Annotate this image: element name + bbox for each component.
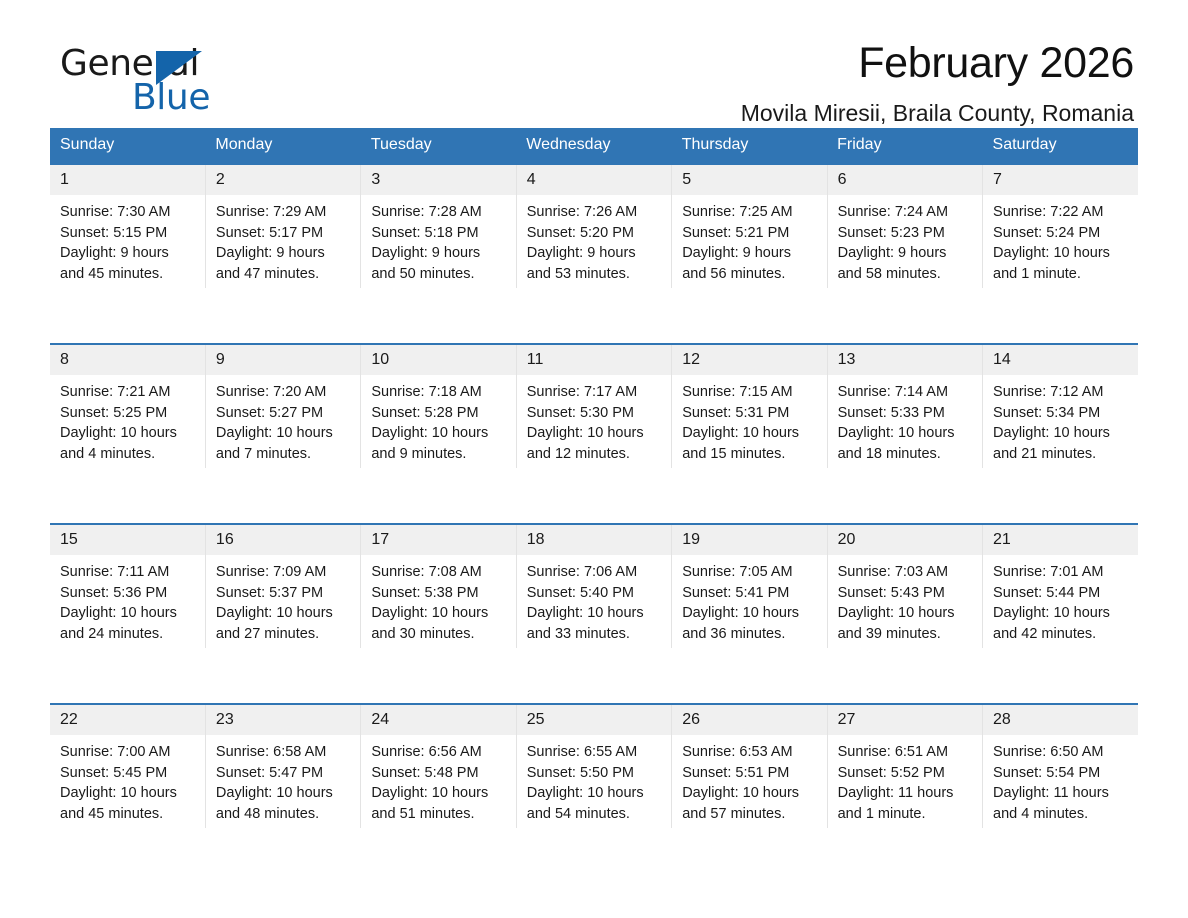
calendar-day-cell[interactable]: 26Sunrise: 6:53 AMSunset: 5:51 PMDayligh… — [672, 704, 827, 828]
day-daylight-line1-text: Daylight: 10 hours — [371, 423, 507, 444]
week-spacer-cell — [516, 468, 671, 524]
day-number: 28 — [983, 705, 1138, 735]
day-daylight-line1-text: Daylight: 10 hours — [682, 603, 818, 624]
day-sunrise-text: Sunrise: 7:29 AM — [216, 202, 352, 223]
day-daylight-line2-text: and 45 minutes. — [60, 804, 197, 825]
day-number: 3 — [361, 165, 515, 195]
calendar-day-cell[interactable]: 2Sunrise: 7:29 AMSunset: 5:17 PMDaylight… — [205, 164, 360, 288]
day-daylight-line1-text: Daylight: 9 hours — [60, 243, 197, 264]
calendar-day-cell[interactable]: 5Sunrise: 7:25 AMSunset: 5:21 PMDaylight… — [672, 164, 827, 288]
day-sunrise-text: Sunrise: 7:11 AM — [60, 562, 197, 583]
day-sunrise-text: Sunrise: 7:12 AM — [993, 382, 1130, 403]
day-daylight-line2-text: and 39 minutes. — [838, 624, 974, 645]
calendar-day-cell[interactable]: 14Sunrise: 7:12 AMSunset: 5:34 PMDayligh… — [983, 344, 1138, 468]
day-sunset-text: Sunset: 5:27 PM — [216, 403, 352, 424]
day-number: 27 — [828, 705, 982, 735]
week-spacer-row — [50, 648, 1138, 704]
day-daylight-line2-text: and 57 minutes. — [682, 804, 818, 825]
day-sunrise-text: Sunrise: 7:24 AM — [838, 202, 974, 223]
calendar-day-cell[interactable]: 7Sunrise: 7:22 AMSunset: 5:24 PMDaylight… — [983, 164, 1138, 288]
calendar-day-cell[interactable]: 9Sunrise: 7:20 AMSunset: 5:27 PMDaylight… — [205, 344, 360, 468]
day-sunrise-text: Sunrise: 6:56 AM — [371, 742, 507, 763]
day-sun-info: Sunrise: 7:12 AMSunset: 5:34 PMDaylight:… — [983, 375, 1138, 468]
day-sunrise-text: Sunrise: 6:50 AM — [993, 742, 1130, 763]
week-spacer-cell — [672, 468, 827, 524]
day-sun-info: Sunrise: 7:22 AMSunset: 5:24 PMDaylight:… — [983, 195, 1138, 288]
day-sunset-text: Sunset: 5:51 PM — [682, 763, 818, 784]
day-daylight-line1-text: Daylight: 10 hours — [993, 243, 1130, 264]
day-sunset-text: Sunset: 5:48 PM — [371, 763, 507, 784]
day-daylight-line2-text: and 50 minutes. — [371, 264, 507, 285]
calendar-day-cell[interactable]: 6Sunrise: 7:24 AMSunset: 5:23 PMDaylight… — [827, 164, 982, 288]
day-sunrise-text: Sunrise: 7:15 AM — [682, 382, 818, 403]
week-spacer-cell — [361, 468, 516, 524]
day-sunset-text: Sunset: 5:43 PM — [838, 583, 974, 604]
day-sun-info: Sunrise: 7:26 AMSunset: 5:20 PMDaylight:… — [517, 195, 671, 288]
day-daylight-line2-text: and 4 minutes. — [60, 444, 197, 465]
day-sunrise-text: Sunrise: 6:58 AM — [216, 742, 352, 763]
day-daylight-line2-text: and 53 minutes. — [527, 264, 663, 285]
day-sun-info: Sunrise: 7:05 AMSunset: 5:41 PMDaylight:… — [672, 555, 826, 648]
day-number: 7 — [983, 165, 1138, 195]
day-daylight-line1-text: Daylight: 9 hours — [371, 243, 507, 264]
day-sunrise-text: Sunrise: 7:30 AM — [60, 202, 197, 223]
day-number: 18 — [517, 525, 671, 555]
day-sunset-text: Sunset: 5:38 PM — [371, 583, 507, 604]
day-sun-info: Sunrise: 7:28 AMSunset: 5:18 PMDaylight:… — [361, 195, 515, 288]
day-sunrise-text: Sunrise: 7:25 AM — [682, 202, 818, 223]
day-sun-info: Sunrise: 7:09 AMSunset: 5:37 PMDaylight:… — [206, 555, 360, 648]
week-spacer-cell — [983, 468, 1138, 524]
calendar-body: 1Sunrise: 7:30 AMSunset: 5:15 PMDaylight… — [50, 164, 1138, 828]
calendar-day-cell[interactable]: 1Sunrise: 7:30 AMSunset: 5:15 PMDaylight… — [50, 164, 205, 288]
weekday-header-saturday: Saturday — [983, 128, 1138, 164]
day-sunset-text: Sunset: 5:25 PM — [60, 403, 197, 424]
day-number: 23 — [206, 705, 360, 735]
day-number: 17 — [361, 525, 515, 555]
calendar-day-cell[interactable]: 25Sunrise: 6:55 AMSunset: 5:50 PMDayligh… — [516, 704, 671, 828]
day-daylight-line1-text: Daylight: 10 hours — [60, 423, 197, 444]
calendar-week-row: 22Sunrise: 7:00 AMSunset: 5:45 PMDayligh… — [50, 704, 1138, 828]
day-daylight-line2-text: and 45 minutes. — [60, 264, 197, 285]
week-spacer-cell — [50, 288, 205, 344]
day-daylight-line2-text: and 27 minutes. — [216, 624, 352, 645]
week-spacer-cell — [983, 288, 1138, 344]
calendar-day-cell[interactable]: 12Sunrise: 7:15 AMSunset: 5:31 PMDayligh… — [672, 344, 827, 468]
week-spacer-cell — [827, 468, 982, 524]
calendar-day-cell[interactable]: 19Sunrise: 7:05 AMSunset: 5:41 PMDayligh… — [672, 524, 827, 648]
day-sunrise-text: Sunrise: 7:26 AM — [527, 202, 663, 223]
week-spacer-row — [50, 468, 1138, 524]
calendar-day-cell[interactable]: 27Sunrise: 6:51 AMSunset: 5:52 PMDayligh… — [827, 704, 982, 828]
weekday-header-tuesday: Tuesday — [361, 128, 516, 164]
day-number: 13 — [828, 345, 982, 375]
week-spacer-cell — [672, 288, 827, 344]
day-sunset-text: Sunset: 5:28 PM — [371, 403, 507, 424]
day-sunrise-text: Sunrise: 7:06 AM — [527, 562, 663, 583]
week-spacer-cell — [361, 288, 516, 344]
day-number: 1 — [50, 165, 205, 195]
day-number: 15 — [50, 525, 205, 555]
day-number: 14 — [983, 345, 1138, 375]
week-spacer-cell — [205, 648, 360, 704]
day-sunset-text: Sunset: 5:24 PM — [993, 223, 1130, 244]
calendar-day-cell[interactable]: 8Sunrise: 7:21 AMSunset: 5:25 PMDaylight… — [50, 344, 205, 468]
day-sunrise-text: Sunrise: 7:03 AM — [838, 562, 974, 583]
day-daylight-line1-text: Daylight: 11 hours — [993, 783, 1130, 804]
calendar-day-cell[interactable]: 28Sunrise: 6:50 AMSunset: 5:54 PMDayligh… — [983, 704, 1138, 828]
calendar-day-cell[interactable]: 3Sunrise: 7:28 AMSunset: 5:18 PMDaylight… — [361, 164, 516, 288]
day-sunrise-text: Sunrise: 7:09 AM — [216, 562, 352, 583]
day-sun-info: Sunrise: 6:58 AMSunset: 5:47 PMDaylight:… — [206, 735, 360, 828]
week-spacer-cell — [50, 648, 205, 704]
day-daylight-line2-text: and 48 minutes. — [216, 804, 352, 825]
day-sunset-text: Sunset: 5:45 PM — [60, 763, 197, 784]
day-daylight-line1-text: Daylight: 10 hours — [60, 603, 197, 624]
day-daylight-line1-text: Daylight: 10 hours — [216, 783, 352, 804]
day-daylight-line1-text: Daylight: 11 hours — [838, 783, 974, 804]
day-sunset-text: Sunset: 5:20 PM — [527, 223, 663, 244]
day-daylight-line2-text: and 33 minutes. — [527, 624, 663, 645]
day-sunrise-text: Sunrise: 7:14 AM — [838, 382, 974, 403]
day-daylight-line1-text: Daylight: 9 hours — [838, 243, 974, 264]
day-sun-info: Sunrise: 6:50 AMSunset: 5:54 PMDaylight:… — [983, 735, 1138, 828]
calendar-page: General Blue February 2026 Movila Miresi… — [0, 0, 1188, 918]
calendar-header-row: Sunday Monday Tuesday Wednesday Thursday… — [50, 128, 1138, 164]
weekday-header-wednesday: Wednesday — [516, 128, 671, 164]
day-daylight-line2-text: and 24 minutes. — [60, 624, 197, 645]
day-sun-info: Sunrise: 7:29 AMSunset: 5:17 PMDaylight:… — [206, 195, 360, 288]
day-sunset-text: Sunset: 5:18 PM — [371, 223, 507, 244]
week-spacer-cell — [516, 288, 671, 344]
weekday-header-friday: Friday — [827, 128, 982, 164]
day-daylight-line2-text: and 9 minutes. — [371, 444, 507, 465]
day-number: 8 — [50, 345, 205, 375]
day-number: 22 — [50, 705, 205, 735]
day-daylight-line1-text: Daylight: 10 hours — [216, 603, 352, 624]
day-sunset-text: Sunset: 5:41 PM — [682, 583, 818, 604]
calendar-day-cell[interactable]: 11Sunrise: 7:17 AMSunset: 5:30 PMDayligh… — [516, 344, 671, 468]
calendar-day-cell[interactable]: 18Sunrise: 7:06 AMSunset: 5:40 PMDayligh… — [516, 524, 671, 648]
calendar-day-cell[interactable]: 21Sunrise: 7:01 AMSunset: 5:44 PMDayligh… — [983, 524, 1138, 648]
day-daylight-line1-text: Daylight: 10 hours — [60, 783, 197, 804]
day-sunset-text: Sunset: 5:47 PM — [216, 763, 352, 784]
day-sun-info: Sunrise: 7:15 AMSunset: 5:31 PMDaylight:… — [672, 375, 826, 468]
day-sunrise-text: Sunrise: 6:51 AM — [838, 742, 974, 763]
day-number: 9 — [206, 345, 360, 375]
calendar-day-cell[interactable]: 4Sunrise: 7:26 AMSunset: 5:20 PMDaylight… — [516, 164, 671, 288]
day-daylight-line2-text: and 47 minutes. — [216, 264, 352, 285]
day-number: 2 — [206, 165, 360, 195]
calendar-day-cell[interactable]: 15Sunrise: 7:11 AMSunset: 5:36 PMDayligh… — [50, 524, 205, 648]
day-daylight-line2-text: and 42 minutes. — [993, 624, 1130, 645]
week-spacer-cell — [361, 648, 516, 704]
day-daylight-line1-text: Daylight: 10 hours — [527, 423, 663, 444]
day-daylight-line2-text: and 56 minutes. — [682, 264, 818, 285]
calendar-day-cell[interactable]: 23Sunrise: 6:58 AMSunset: 5:47 PMDayligh… — [205, 704, 360, 828]
day-daylight-line2-text: and 58 minutes. — [838, 264, 974, 285]
calendar-day-cell[interactable]: 17Sunrise: 7:08 AMSunset: 5:38 PMDayligh… — [361, 524, 516, 648]
day-sunset-text: Sunset: 5:36 PM — [60, 583, 197, 604]
day-sunset-text: Sunset: 5:34 PM — [993, 403, 1130, 424]
day-number: 24 — [361, 705, 515, 735]
day-daylight-line2-text: and 1 minute. — [993, 264, 1130, 285]
day-sunrise-text: Sunrise: 7:08 AM — [371, 562, 507, 583]
day-sunrise-text: Sunrise: 7:20 AM — [216, 382, 352, 403]
day-number: 10 — [361, 345, 515, 375]
sunrise-sunset-calendar: Sunday Monday Tuesday Wednesday Thursday… — [50, 128, 1138, 828]
day-sunrise-text: Sunrise: 7:01 AM — [993, 562, 1130, 583]
day-daylight-line1-text: Daylight: 10 hours — [993, 603, 1130, 624]
day-sunset-text: Sunset: 5:15 PM — [60, 223, 197, 244]
day-daylight-line2-text: and 21 minutes. — [993, 444, 1130, 465]
calendar-week-row: 8Sunrise: 7:21 AMSunset: 5:25 PMDaylight… — [50, 344, 1138, 468]
day-daylight-line1-text: Daylight: 10 hours — [216, 423, 352, 444]
calendar-day-cell[interactable]: 13Sunrise: 7:14 AMSunset: 5:33 PMDayligh… — [827, 344, 982, 468]
day-sunrise-text: Sunrise: 7:17 AM — [527, 382, 663, 403]
weekday-header-monday: Monday — [205, 128, 360, 164]
day-sunrise-text: Sunrise: 6:55 AM — [527, 742, 663, 763]
calendar-day-cell[interactable]: 24Sunrise: 6:56 AMSunset: 5:48 PMDayligh… — [361, 704, 516, 828]
calendar-day-cell[interactable]: 10Sunrise: 7:18 AMSunset: 5:28 PMDayligh… — [361, 344, 516, 468]
day-daylight-line1-text: Daylight: 9 hours — [682, 243, 818, 264]
day-sun-info: Sunrise: 7:00 AMSunset: 5:45 PMDaylight:… — [50, 735, 205, 828]
day-sunset-text: Sunset: 5:23 PM — [838, 223, 974, 244]
week-spacer-cell — [50, 468, 205, 524]
calendar-day-cell[interactable]: 22Sunrise: 7:00 AMSunset: 5:45 PMDayligh… — [50, 704, 205, 828]
day-sunset-text: Sunset: 5:54 PM — [993, 763, 1130, 784]
day-daylight-line1-text: Daylight: 10 hours — [838, 423, 974, 444]
day-daylight-line2-text: and 54 minutes. — [527, 804, 663, 825]
day-daylight-line2-text: and 51 minutes. — [371, 804, 507, 825]
day-sun-info: Sunrise: 7:21 AMSunset: 5:25 PMDaylight:… — [50, 375, 205, 468]
day-sunset-text: Sunset: 5:17 PM — [216, 223, 352, 244]
calendar-day-cell[interactable]: 16Sunrise: 7:09 AMSunset: 5:37 PMDayligh… — [205, 524, 360, 648]
day-sun-info: Sunrise: 7:06 AMSunset: 5:40 PMDaylight:… — [517, 555, 671, 648]
day-number: 6 — [828, 165, 982, 195]
day-daylight-line1-text: Daylight: 9 hours — [527, 243, 663, 264]
day-sunrise-text: Sunrise: 7:00 AM — [60, 742, 197, 763]
day-sunset-text: Sunset: 5:30 PM — [527, 403, 663, 424]
day-sun-info: Sunrise: 6:53 AMSunset: 5:51 PMDaylight:… — [672, 735, 826, 828]
day-daylight-line1-text: Daylight: 9 hours — [216, 243, 352, 264]
day-sunset-text: Sunset: 5:21 PM — [682, 223, 818, 244]
day-sun-info: Sunrise: 7:18 AMSunset: 5:28 PMDaylight:… — [361, 375, 515, 468]
day-sunrise-text: Sunrise: 7:28 AM — [371, 202, 507, 223]
week-spacer-cell — [205, 288, 360, 344]
day-sunset-text: Sunset: 5:40 PM — [527, 583, 663, 604]
day-daylight-line1-text: Daylight: 10 hours — [993, 423, 1130, 444]
logo-triangle-icon — [156, 51, 202, 85]
day-number: 5 — [672, 165, 826, 195]
day-daylight-line2-text: and 30 minutes. — [371, 624, 507, 645]
day-sun-info: Sunrise: 7:30 AMSunset: 5:15 PMDaylight:… — [50, 195, 205, 288]
week-spacer-cell — [516, 648, 671, 704]
calendar-week-row: 1Sunrise: 7:30 AMSunset: 5:15 PMDaylight… — [50, 164, 1138, 288]
day-sunrise-text: Sunrise: 7:18 AM — [371, 382, 507, 403]
day-sun-info: Sunrise: 7:08 AMSunset: 5:38 PMDaylight:… — [361, 555, 515, 648]
day-number: 19 — [672, 525, 826, 555]
day-daylight-line2-text: and 7 minutes. — [216, 444, 352, 465]
day-number: 11 — [517, 345, 671, 375]
day-sun-info: Sunrise: 6:56 AMSunset: 5:48 PMDaylight:… — [361, 735, 515, 828]
day-daylight-line2-text: and 1 minute. — [838, 804, 974, 825]
day-daylight-line1-text: Daylight: 10 hours — [371, 603, 507, 624]
day-sun-info: Sunrise: 6:55 AMSunset: 5:50 PMDaylight:… — [517, 735, 671, 828]
day-sun-info: Sunrise: 7:01 AMSunset: 5:44 PMDaylight:… — [983, 555, 1138, 648]
day-sunrise-text: Sunrise: 7:05 AM — [682, 562, 818, 583]
day-daylight-line1-text: Daylight: 10 hours — [838, 603, 974, 624]
day-sunrise-text: Sunrise: 7:22 AM — [993, 202, 1130, 223]
day-sun-info: Sunrise: 7:03 AMSunset: 5:43 PMDaylight:… — [828, 555, 982, 648]
day-sunset-text: Sunset: 5:37 PM — [216, 583, 352, 604]
week-spacer-cell — [827, 288, 982, 344]
day-sun-info: Sunrise: 7:25 AMSunset: 5:21 PMDaylight:… — [672, 195, 826, 288]
day-number: 4 — [517, 165, 671, 195]
day-number: 12 — [672, 345, 826, 375]
day-daylight-line2-text: and 15 minutes. — [682, 444, 818, 465]
day-sun-info: Sunrise: 7:20 AMSunset: 5:27 PMDaylight:… — [206, 375, 360, 468]
day-sun-info: Sunrise: 7:14 AMSunset: 5:33 PMDaylight:… — [828, 375, 982, 468]
day-daylight-line1-text: Daylight: 10 hours — [527, 783, 663, 804]
day-sunrise-text: Sunrise: 6:53 AM — [682, 742, 818, 763]
day-number: 25 — [517, 705, 671, 735]
calendar-day-cell[interactable]: 20Sunrise: 7:03 AMSunset: 5:43 PMDayligh… — [827, 524, 982, 648]
day-sunset-text: Sunset: 5:44 PM — [993, 583, 1130, 604]
day-sunset-text: Sunset: 5:33 PM — [838, 403, 974, 424]
day-sun-info: Sunrise: 7:17 AMSunset: 5:30 PMDaylight:… — [517, 375, 671, 468]
day-daylight-line1-text: Daylight: 10 hours — [527, 603, 663, 624]
week-spacer-cell — [827, 648, 982, 704]
day-sun-info: Sunrise: 7:24 AMSunset: 5:23 PMDaylight:… — [828, 195, 982, 288]
day-sunrise-text: Sunrise: 7:21 AM — [60, 382, 197, 403]
calendar-week-row: 15Sunrise: 7:11 AMSunset: 5:36 PMDayligh… — [50, 524, 1138, 648]
day-daylight-line2-text: and 12 minutes. — [527, 444, 663, 465]
day-number: 26 — [672, 705, 826, 735]
generalblue-logo[interactable]: General Blue — [60, 44, 290, 120]
day-sunset-text: Sunset: 5:31 PM — [682, 403, 818, 424]
day-daylight-line2-text: and 36 minutes. — [682, 624, 818, 645]
day-daylight-line2-text: and 4 minutes. — [993, 804, 1130, 825]
week-spacer-cell — [205, 468, 360, 524]
page-header: General Blue February 2026 Movila Miresi… — [50, 0, 1138, 110]
day-daylight-line2-text: and 18 minutes. — [838, 444, 974, 465]
day-number: 20 — [828, 525, 982, 555]
weekday-header-thursday: Thursday — [672, 128, 827, 164]
day-number: 21 — [983, 525, 1138, 555]
weekday-header-sunday: Sunday — [50, 128, 205, 164]
day-daylight-line1-text: Daylight: 10 hours — [371, 783, 507, 804]
day-number: 16 — [206, 525, 360, 555]
week-spacer-cell — [983, 648, 1138, 704]
week-spacer-row — [50, 288, 1138, 344]
day-sun-info: Sunrise: 6:51 AMSunset: 5:52 PMDaylight:… — [828, 735, 982, 828]
day-daylight-line1-text: Daylight: 10 hours — [682, 783, 818, 804]
day-sun-info: Sunrise: 7:11 AMSunset: 5:36 PMDaylight:… — [50, 555, 205, 648]
week-spacer-cell — [672, 648, 827, 704]
day-sunset-text: Sunset: 5:52 PM — [838, 763, 974, 784]
day-daylight-line1-text: Daylight: 10 hours — [682, 423, 818, 444]
day-sunset-text: Sunset: 5:50 PM — [527, 763, 663, 784]
logo-text-blue: Blue — [132, 80, 290, 116]
